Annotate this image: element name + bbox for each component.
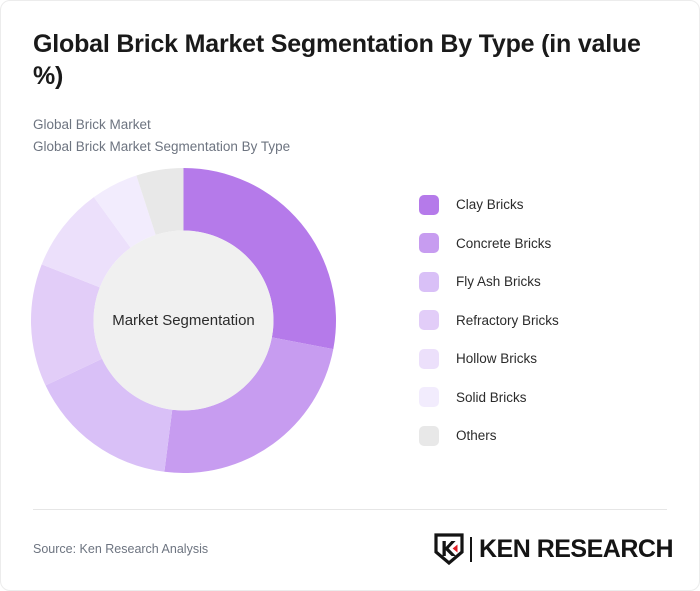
legend-label: Fly Ash Bricks xyxy=(456,274,541,289)
legend-label: Clay Bricks xyxy=(456,197,524,212)
chart-header: Global Brick Market Segmentation By Type… xyxy=(1,1,699,158)
chart-legend: Clay BricksConcrete BricksFly Ash Bricks… xyxy=(419,186,669,456)
legend-swatch-icon xyxy=(419,349,439,369)
legend-item[interactable]: Concrete Bricks xyxy=(419,224,669,263)
legend-item[interactable]: Clay Bricks xyxy=(419,186,669,225)
legend-label: Solid Bricks xyxy=(456,390,527,405)
legend-label: Refractory Bricks xyxy=(456,313,559,328)
logo-separator xyxy=(470,537,472,562)
legend-label: Concrete Bricks xyxy=(456,236,551,251)
footer-divider xyxy=(33,509,667,510)
donut-center-hole xyxy=(94,230,274,410)
source-note: Source: Ken Research Analysis xyxy=(33,542,208,556)
donut-svg xyxy=(31,168,336,473)
legend-swatch-icon xyxy=(419,195,439,215)
page-title: Global Brick Market Segmentation By Type… xyxy=(33,29,658,92)
legend-label: Hollow Bricks xyxy=(456,351,537,366)
legend-swatch-icon xyxy=(419,426,439,446)
legend-item[interactable]: Solid Bricks xyxy=(419,378,669,417)
legend-swatch-icon xyxy=(419,310,439,330)
legend-label: Others xyxy=(456,428,497,443)
ken-research-shield-icon xyxy=(434,533,464,565)
donut-chart: Market Segmentation xyxy=(31,168,336,473)
legend-swatch-icon xyxy=(419,233,439,253)
legend-item[interactable]: Refractory Bricks xyxy=(419,301,669,340)
logo-wordmark: KEN RESEARCH xyxy=(479,537,673,562)
chart-body: Market Segmentation Clay BricksConcrete … xyxy=(1,168,699,488)
legend-swatch-icon xyxy=(419,272,439,292)
legend-item[interactable]: Hollow Bricks xyxy=(419,340,669,379)
subtitle-market: Global Brick Market xyxy=(33,114,667,136)
legend-swatch-icon xyxy=(419,387,439,407)
legend-item[interactable]: Others xyxy=(419,417,669,456)
legend-item[interactable]: Fly Ash Bricks xyxy=(419,263,669,302)
chart-card: Global Brick Market Segmentation By Type… xyxy=(0,0,700,591)
chart-footer: Source: Ken Research Analysis KEN RESEAR… xyxy=(33,529,673,569)
subtitle-segmentation: Global Brick Market Segmentation By Type xyxy=(33,136,667,158)
subtitle-group: Global Brick Market Global Brick Market … xyxy=(33,114,667,158)
ken-research-logo: KEN RESEARCH xyxy=(434,533,673,565)
